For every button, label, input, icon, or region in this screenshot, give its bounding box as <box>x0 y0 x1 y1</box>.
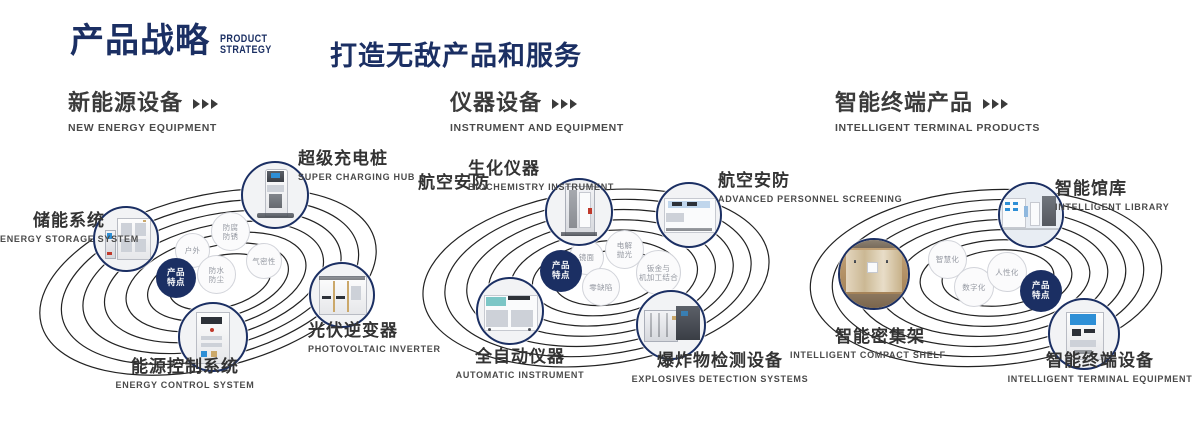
feature-bubble-text: 防锈 <box>223 232 239 241</box>
product-label-en: AUTOMATIC INSTRUMENT <box>420 370 620 381</box>
product-strategy-infographic: 产品战略 PRODUCT STRATEGY 打造无敌产品和服务 新能源设备 NE… <box>0 0 1200 422</box>
explosives-detection-illustration <box>638 292 704 358</box>
page-subtitle: 打造无敌产品和服务 <box>330 34 582 73</box>
chevron-right-icon <box>552 99 577 109</box>
feature-bubble-text: 气密性 <box>252 257 275 266</box>
feature-bubble-text: 镜面 <box>579 253 595 262</box>
core-badge-line2: 特点 <box>552 271 570 281</box>
page-title: 产品战略 PRODUCT STRATEGY <box>70 24 283 58</box>
product-label-cn: 储能系统 <box>0 212 105 232</box>
core-badge-line1: 产品 <box>167 268 185 278</box>
feature-bubble: 气密性 <box>246 243 282 279</box>
product-circle-explosives-detection[interactable] <box>636 290 706 360</box>
section-title-en: NEW ENERGY EQUIPMENT <box>68 122 218 134</box>
chevron-right-icon <box>983 99 1008 109</box>
product-label-en: INTELLIGENT COMPACT SHELF <box>790 350 925 361</box>
product-label-cn: 能源控制系统 <box>75 358 295 378</box>
feature-bubble: 零缺陷 <box>582 268 620 306</box>
product-label-cn: 智能馆库 <box>1055 180 1169 200</box>
section-title-cn: 智能终端产品 <box>835 93 973 115</box>
feature-bubble-text: 数字化 <box>962 283 985 292</box>
feature-bubble: 防水 防尘 <box>197 255 236 294</box>
page-title-en: PRODUCT STRATEGY <box>220 34 272 56</box>
product-label-energy-storage: 储能系统 ENERGY STORAGE SYSTEM <box>0 212 105 245</box>
core-badge: 产品 特点 <box>540 250 582 292</box>
product-label-cn: 智能密集架 <box>790 328 925 348</box>
product-label-intelligent-library: 智能馆库 INTELLIGENT LIBRARY <box>1055 180 1169 213</box>
product-circle-personnel-screening[interactable] <box>656 182 722 248</box>
product-label-en: SUPER CHARGING HUB <box>298 172 415 183</box>
feature-bubble-text: 零缺陷 <box>589 283 612 292</box>
feature-bubble-text: 防腐 <box>223 223 239 232</box>
section-title-intelligent-terminal: 智能终端产品 INTELLIGENT TERMINAL PRODUCTS <box>835 93 1040 134</box>
feature-bubble-text: 户外 <box>185 246 201 255</box>
feature-bubble-text: 人性化 <box>995 268 1018 277</box>
compact-shelf-illustration <box>840 240 908 308</box>
section-title-cn: 新能源设备 <box>68 93 183 115</box>
product-label-charging-hub: 超级充电桩 SUPER CHARGING HUB <box>298 150 415 183</box>
pv-inverter-illustration <box>311 264 373 326</box>
intelligent-library-illustration <box>1000 184 1062 246</box>
section-title-en: INTELLIGENT TERMINAL PRODUCTS <box>835 122 1040 134</box>
feature-bubble-text: 智慧化 <box>936 255 959 264</box>
product-circle-pv-inverter[interactable] <box>309 262 375 328</box>
product-label-biochemistry-instrument: 生化仪器 BIOCHEMISTRY INSTRUMENT <box>468 160 564 193</box>
product-label-compact-shelf: 智能密集架 INTELLIGENT COMPACT SHELF <box>790 328 925 361</box>
product-label-en: INTELLIGENT TERMINAL EQUIPMENT <box>1000 374 1200 385</box>
product-circle-automatic-instrument[interactable] <box>476 277 544 345</box>
feature-bubble-text: 防水 <box>209 266 225 275</box>
core-badge-line2: 特点 <box>1032 291 1050 301</box>
automatic-instrument-illustration <box>478 279 542 343</box>
product-label-en: INTELLIGENT LIBRARY <box>1055 202 1169 213</box>
personnel-screening-illustration <box>658 184 720 246</box>
product-label-terminal-equipment: 智能终端设备 INTELLIGENT TERMINAL EQUIPMENT <box>1000 352 1200 385</box>
page-title-en-line2: STRATEGY <box>220 45 272 56</box>
product-label-en: ENERGY STORAGE SYSTEM <box>0 234 105 245</box>
chevron-right-icon <box>193 99 218 109</box>
product-circle-compact-shelf[interactable] <box>838 238 910 310</box>
product-label-en: ENERGY CONTROL SYSTEM <box>75 380 295 391</box>
core-badge-line1: 产品 <box>1032 281 1050 291</box>
product-label-cn: 超级充电桩 <box>298 150 415 170</box>
product-label-cn: 全自动仪器 <box>420 348 620 368</box>
feature-bubble-text: 防尘 <box>209 275 225 284</box>
feature-bubble: 钣金与 机加工结合 <box>636 250 681 295</box>
product-label-cn: 生化仪器 <box>468 160 564 180</box>
product-label-cn: 智能终端设备 <box>1000 352 1200 372</box>
core-badge-line2: 特点 <box>167 278 185 288</box>
feature-bubble-text: 钣金与 <box>647 264 670 273</box>
section-title-instrument: 仪器设备 INSTRUMENT AND EQUIPMENT <box>450 93 624 134</box>
feature-bubble-text: 机加工结合 <box>639 273 678 282</box>
product-label-automatic-instrument: 全自动仪器 AUTOMATIC INSTRUMENT <box>420 348 620 381</box>
section-title-en: INSTRUMENT AND EQUIPMENT <box>450 122 624 134</box>
core-badge-line1: 产品 <box>552 261 570 271</box>
core-badge: 产品 特点 <box>156 258 196 298</box>
section-title-new-energy: 新能源设备 NEW ENERGY EQUIPMENT <box>68 93 218 134</box>
product-label-energy-control: 能源控制系统 ENERGY CONTROL SYSTEM <box>75 358 295 391</box>
feature-bubble-text: 抛光 <box>617 250 633 259</box>
feature-bubble-text: 电解 <box>617 241 633 250</box>
section-title-cn: 仪器设备 <box>450 93 542 115</box>
product-label-en: BIOCHEMISTRY INSTRUMENT <box>468 182 564 193</box>
page-title-cn: 产品战略 <box>70 24 210 58</box>
